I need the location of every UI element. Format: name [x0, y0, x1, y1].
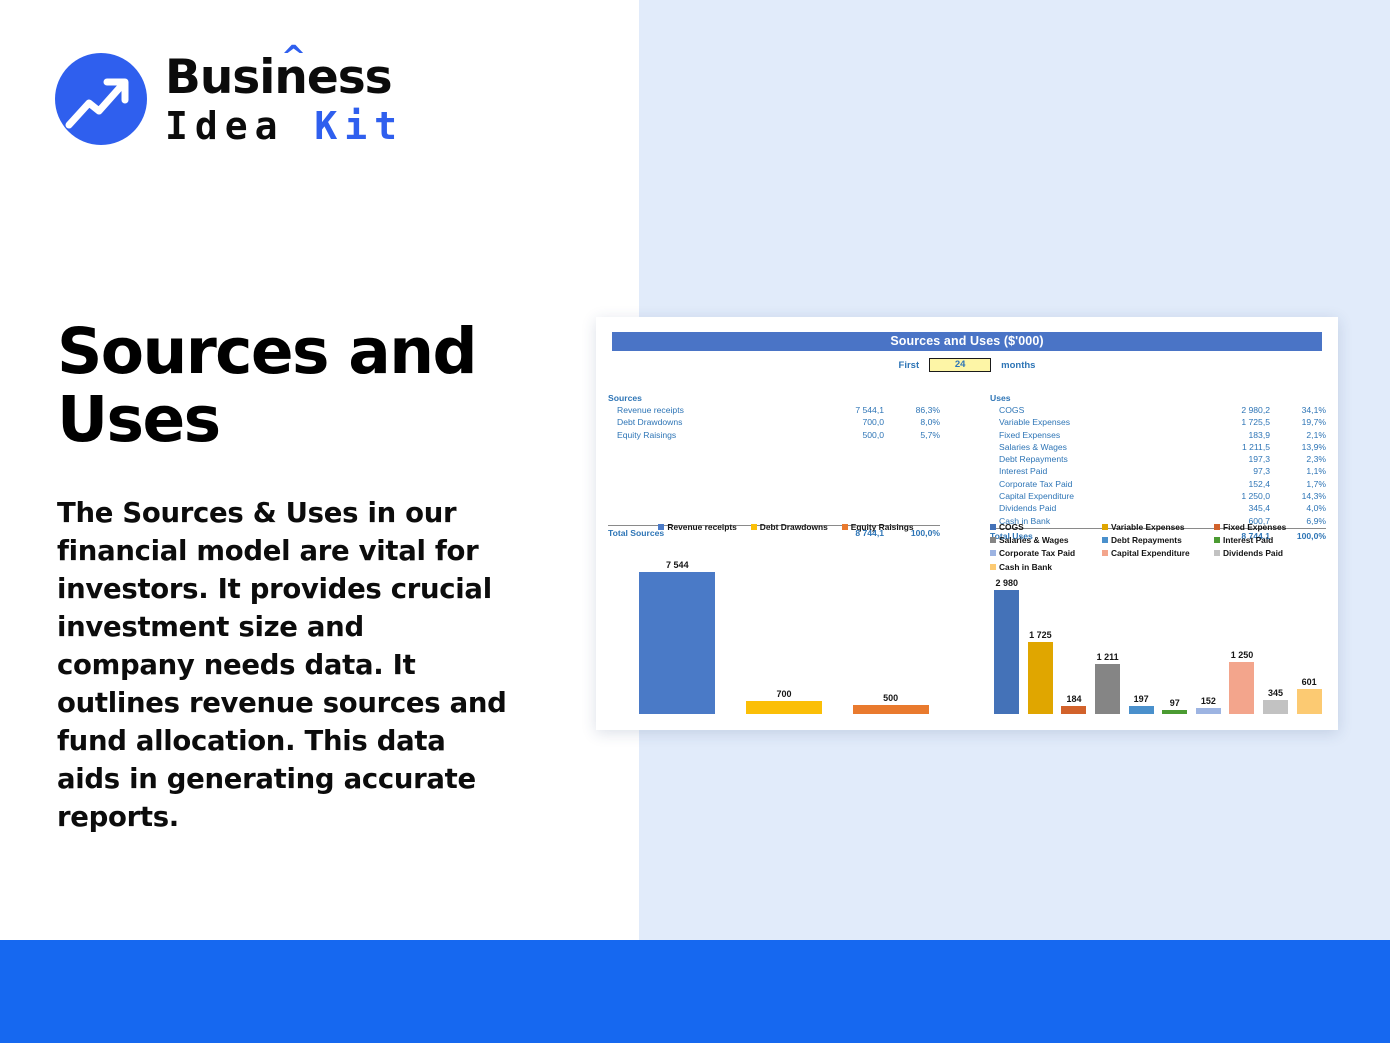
uses-bar-chart: COGSVariable ExpensesFixed ExpensesSalar… [990, 522, 1326, 714]
bar-column: 1 725 [1024, 576, 1058, 714]
bar-data-label: 500 [883, 693, 898, 703]
row-label: Equity Raisings [608, 429, 818, 441]
legend-swatch-icon [1102, 550, 1108, 556]
bar-column: 1 250 [1225, 576, 1259, 714]
legend-item: Salaries & Wages [990, 535, 1102, 545]
sources-chart-plot: 7 544700500 [624, 558, 944, 714]
sources-table: Sources Revenue receipts 7 544,1 86,3% D… [608, 393, 940, 540]
row-percent: 2,3% [1270, 453, 1326, 465]
spreadsheet-card: Sources and Uses ($'000) First 24 months… [596, 317, 1338, 730]
legend-item: Fixed Expenses [1214, 522, 1326, 532]
bar-data-label: 345 [1268, 688, 1283, 698]
legend-label: COGS [999, 522, 1024, 532]
row-value: 1 725,5 [1204, 416, 1270, 428]
legend-swatch-icon [842, 524, 848, 530]
sources-header: Sources [608, 393, 940, 404]
row-value: 197,3 [1204, 453, 1270, 465]
row-label: Debt Drawdowns [608, 416, 818, 428]
row-label: Capital Expenditure [990, 490, 1204, 502]
row-value: 97,3 [1204, 465, 1270, 477]
legend-item: Cash in Bank [990, 562, 1102, 572]
page-description: The Sources & Uses in our financial mode… [57, 495, 507, 836]
sources-bar-chart: Revenue receiptsDebt DrawdownsEquity Rai… [624, 522, 944, 714]
legend-item: Debt Drawdowns [751, 522, 828, 532]
bar[interactable] [1028, 642, 1053, 714]
row-percent: 2,1% [1270, 429, 1326, 441]
legend-swatch-icon [1214, 550, 1220, 556]
row-value: 700,0 [818, 416, 884, 428]
table-row: Dividends Paid345,44,0% [990, 502, 1326, 514]
legend-item: Variable Expenses [1102, 522, 1214, 532]
row-value: 183,9 [1204, 429, 1270, 441]
legend-label: Salaries & Wages [999, 535, 1069, 545]
row-label: Revenue receipts [608, 404, 818, 416]
legend-item: Debt Repayments [1102, 535, 1214, 545]
legend-item: COGS [990, 522, 1102, 532]
legend-swatch-icon [658, 524, 664, 530]
legend-item: Dividends Paid [1214, 548, 1326, 558]
bar-data-label: 1 725 [1029, 630, 1052, 640]
row-label: Fixed Expenses [990, 429, 1204, 441]
logo-idea-text: Idea [165, 104, 314, 148]
bar-data-label: 601 [1302, 677, 1317, 687]
spreadsheet-title-bar: Sources and Uses ($'000) [612, 332, 1322, 351]
legend-label: Fixed Expenses [1223, 522, 1286, 532]
bar[interactable] [994, 590, 1019, 714]
row-value: 1 250,0 [1204, 490, 1270, 502]
bar-data-label: 184 [1066, 694, 1081, 704]
row-value: 500,0 [818, 429, 884, 441]
bar-column: 345 [1259, 576, 1293, 714]
row-label: Debt Repayments [990, 453, 1204, 465]
bar-data-label: 1 211 [1097, 652, 1119, 662]
row-value: 1 211,5 [1204, 441, 1270, 453]
brand-logo: Business ^ Idea Kit [55, 53, 404, 145]
uses-header: Uses [990, 393, 1326, 404]
table-row: Variable Expenses1 725,519,7% [990, 416, 1326, 428]
legend-label: Capital Expenditure [1111, 548, 1190, 558]
row-value: 345,4 [1204, 502, 1270, 514]
row-percent: 8,0% [884, 416, 940, 428]
bar-data-label: 1 250 [1231, 650, 1254, 660]
page-title: Sources and Uses [57, 318, 577, 454]
row-percent: 19,7% [1270, 416, 1326, 428]
bar-column: 1 211 [1091, 576, 1125, 714]
legend-label: Revenue receipts [667, 522, 736, 532]
bar-column: 700 [731, 558, 838, 714]
uses-table: Uses COGS2 980,234,1% Variable Expenses1… [990, 393, 1326, 543]
bar-column: 500 [837, 558, 944, 714]
legend-label: Equity Raisings [851, 522, 914, 532]
table-row: Debt Repayments197,32,3% [990, 453, 1326, 465]
row-percent: 14,3% [1270, 490, 1326, 502]
table-row: Salaries & Wages1 211,513,9% [990, 441, 1326, 453]
row-label: Corporate Tax Paid [990, 478, 1204, 490]
legend-item: Revenue receipts [658, 522, 736, 532]
bar-column: 152 [1192, 576, 1226, 714]
period-selector-row: First 24 months [612, 358, 1322, 372]
table-row: Debt Drawdowns 700,0 8,0% [608, 416, 940, 428]
table-row: Equity Raisings 500,0 5,7% [608, 429, 940, 441]
bar-data-label: 2 980 [996, 578, 1019, 588]
row-label: COGS [990, 404, 1204, 416]
bar[interactable] [853, 705, 929, 714]
sources-chart-legend: Revenue receiptsDebt DrawdownsEquity Rai… [624, 522, 944, 532]
period-prefix-label: First [899, 360, 920, 371]
row-percent: 86,3% [884, 404, 940, 416]
trending-up-arrow-icon [55, 53, 147, 145]
row-percent: 1,1% [1270, 465, 1326, 477]
logo-kit-text: Kit [314, 104, 404, 148]
period-suffix-label: months [1001, 360, 1035, 371]
bar[interactable] [1263, 700, 1288, 714]
legend-label: Corporate Tax Paid [999, 548, 1075, 558]
row-label: Interest Paid [990, 465, 1204, 477]
bar[interactable] [1162, 710, 1187, 714]
legend-swatch-icon [1102, 524, 1108, 530]
bar-data-label: 97 [1170, 698, 1180, 708]
bar-data-label: 700 [776, 689, 791, 699]
row-label: Variable Expenses [990, 416, 1204, 428]
row-percent: 34,1% [1270, 404, 1326, 416]
table-row: Corporate Tax Paid152,41,7% [990, 478, 1326, 490]
bar[interactable] [1297, 689, 1322, 714]
row-label: Dividends Paid [990, 502, 1204, 514]
row-value: 2 980,2 [1204, 404, 1270, 416]
uses-chart-plot: 2 9801 7251841 211197971521 250345601 [990, 576, 1326, 714]
legend-item: Equity Raisings [842, 522, 914, 532]
legend-label: Cash in Bank [999, 562, 1052, 572]
legend-item: Interest Paid [1214, 535, 1326, 545]
bar-column: 2 980 [990, 576, 1024, 714]
bar[interactable] [746, 701, 822, 714]
bar[interactable] [1095, 664, 1120, 714]
row-percent: 13,9% [1270, 441, 1326, 453]
table-row: COGS2 980,234,1% [990, 404, 1326, 416]
bar-column: 7 544 [624, 558, 731, 714]
bar[interactable] [1129, 706, 1154, 714]
legend-swatch-icon [990, 537, 996, 543]
legend-label: Dividends Paid [1223, 548, 1283, 558]
row-value: 152,4 [1204, 478, 1270, 490]
logo-wordmark-line1: Business ^ [165, 54, 404, 101]
legend-swatch-icon [990, 550, 996, 556]
logo-wordmark-line2: Idea Kit [165, 107, 404, 145]
bar-column: 97 [1158, 576, 1192, 714]
row-percent: 5,7% [884, 429, 940, 441]
bar-data-label: 197 [1134, 694, 1149, 704]
legend-swatch-icon [751, 524, 757, 530]
bar[interactable] [1229, 662, 1254, 714]
table-row: Interest Paid97,31,1% [990, 465, 1326, 477]
months-input[interactable]: 24 [929, 358, 991, 372]
legend-swatch-icon [1214, 524, 1220, 530]
bar-column: 184 [1057, 576, 1091, 714]
table-row: Revenue receipts 7 544,1 86,3% [608, 404, 940, 416]
legend-label: Interest Paid [1223, 535, 1273, 545]
uses-chart-legend: COGSVariable ExpensesFixed ExpensesSalar… [990, 522, 1326, 575]
table-row: Fixed Expenses183,92,1% [990, 429, 1326, 441]
legend-label: Debt Drawdowns [760, 522, 828, 532]
legend-swatch-icon [990, 564, 996, 570]
bar[interactable] [1061, 706, 1086, 714]
logo-business-text: Business [165, 50, 392, 105]
legend-swatch-icon [990, 524, 996, 530]
bar-column: 601 [1292, 576, 1326, 714]
logo-caret-accent: ^ [281, 43, 305, 73]
bar[interactable] [639, 572, 715, 714]
row-label: Salaries & Wages [990, 441, 1204, 453]
row-percent: 1,7% [1270, 478, 1326, 490]
table-row: Capital Expenditure1 250,014,3% [990, 490, 1326, 502]
legend-item: Corporate Tax Paid [990, 548, 1102, 558]
legend-item: Capital Expenditure [1102, 548, 1214, 558]
row-value: 7 544,1 [818, 404, 884, 416]
footer-bar [0, 940, 1390, 1043]
legend-label: Variable Expenses [1111, 522, 1185, 532]
bar[interactable] [1196, 708, 1221, 714]
legend-swatch-icon [1102, 537, 1108, 543]
legend-swatch-icon [1214, 537, 1220, 543]
bar-data-label: 152 [1201, 696, 1216, 706]
bar-data-label: 7 544 [666, 560, 689, 570]
legend-label: Debt Repayments [1111, 535, 1182, 545]
row-percent: 4,0% [1270, 502, 1326, 514]
bar-column: 197 [1124, 576, 1158, 714]
